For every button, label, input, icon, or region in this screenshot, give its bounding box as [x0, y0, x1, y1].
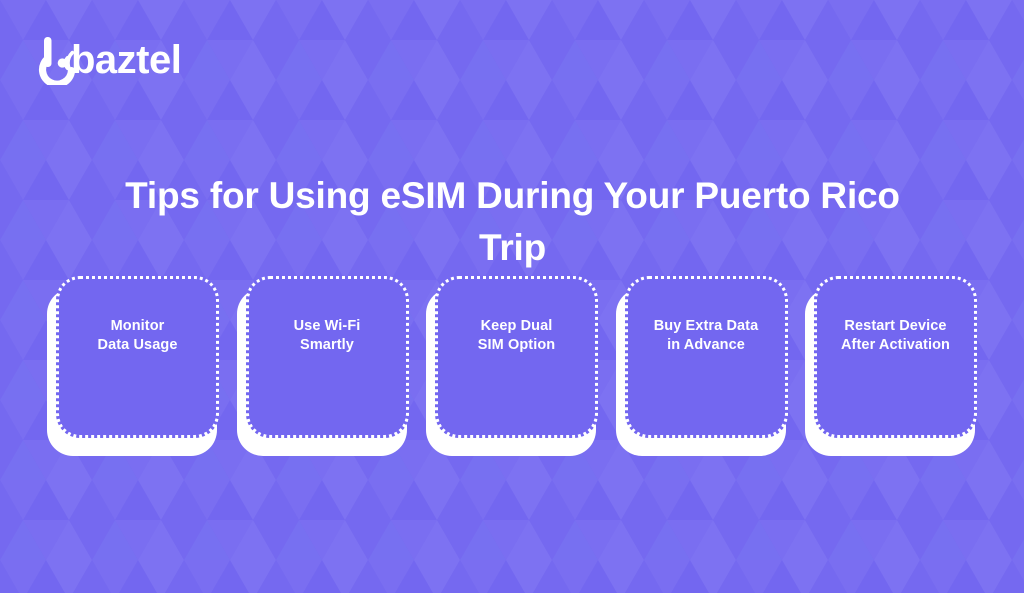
- card-dotted-panel: MonitorData Usage: [56, 276, 219, 438]
- card-dotted-panel: Buy Extra Datain Advance: [625, 276, 788, 438]
- card-label: Use Wi-FiSmartly: [249, 317, 406, 355]
- infographic-canvas: baztel Tips for Using eSIM During Your P…: [0, 0, 1024, 593]
- card-label: Keep DualSIM Option: [438, 317, 595, 355]
- card-label: MonitorData Usage: [59, 317, 216, 355]
- card-dotted-panel: Restart DeviceAfter Activation: [814, 276, 977, 438]
- card-dotted-panel: Keep DualSIM Option: [435, 276, 598, 438]
- tip-card[interactable]: Restart DeviceAfter Activation 05: [805, 276, 977, 456]
- tips-card-row: MonitorData Usage 01 Use Wi-FiSmartly 02…: [47, 276, 977, 456]
- card-label: Buy Extra Datain Advance: [628, 317, 785, 355]
- tip-card[interactable]: Use Wi-FiSmartly 02: [237, 276, 409, 456]
- brand-name: baztel: [71, 40, 181, 80]
- card-label: Restart DeviceAfter Activation: [817, 317, 974, 355]
- card-dotted-panel: Use Wi-FiSmartly: [246, 276, 409, 438]
- brand-logo[interactable]: baztel: [38, 32, 181, 86]
- tip-card[interactable]: Keep DualSIM Option 03: [426, 276, 598, 456]
- tip-card[interactable]: Buy Extra Datain Advance 04: [616, 276, 788, 456]
- page-title: Tips for Using eSIM During Your Puerto R…: [110, 170, 915, 275]
- tip-card[interactable]: MonitorData Usage 01: [47, 276, 219, 456]
